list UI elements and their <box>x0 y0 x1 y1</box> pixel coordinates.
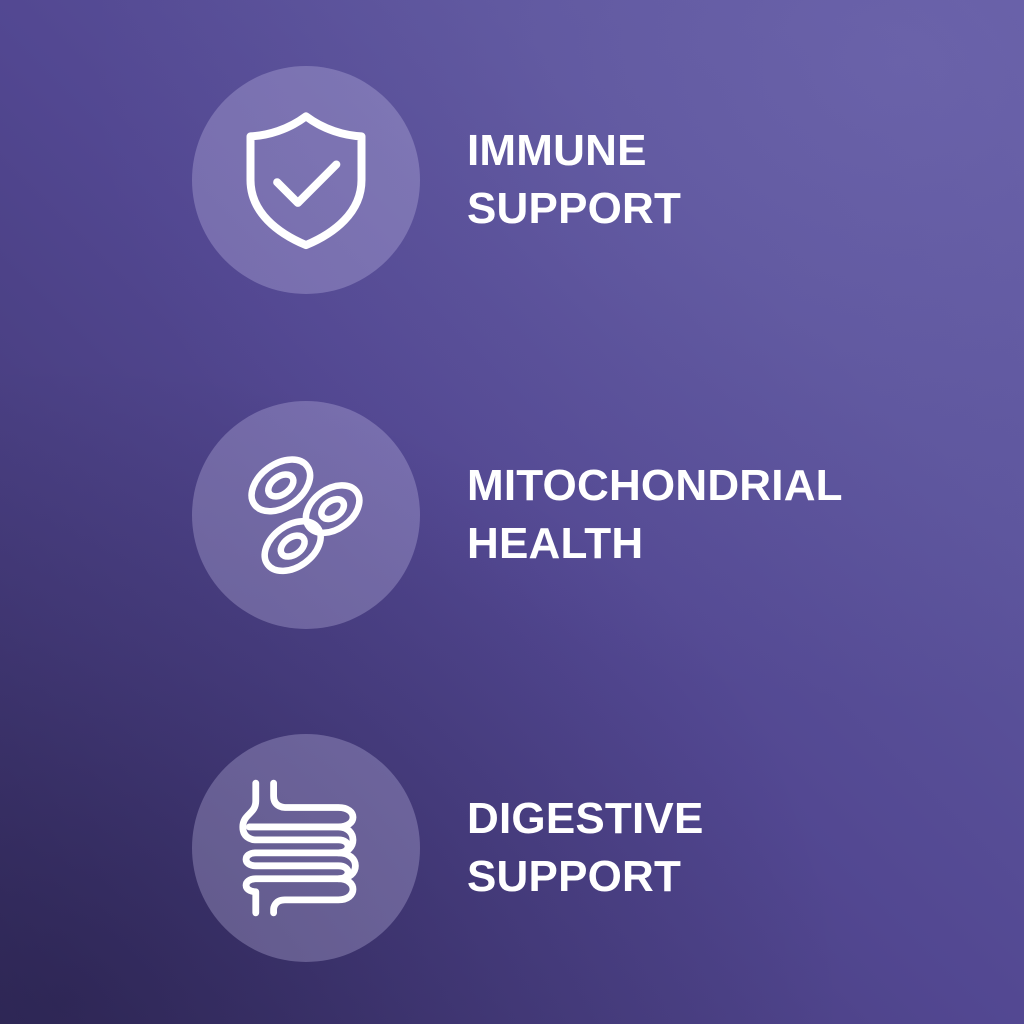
shield-check-icon <box>232 106 380 254</box>
feature-row: Immune Support <box>0 66 1024 294</box>
icon-badge-digestive <box>192 734 420 962</box>
mitochondria-cells-icon <box>232 441 380 589</box>
feature-label-digestive: Digestive Support <box>467 790 704 906</box>
icon-badge-mitochondrial <box>192 401 420 629</box>
icon-badge-immune <box>192 66 420 294</box>
feature-label-mitochondrial: Mitochondrial Health <box>467 457 843 573</box>
intestine-icon <box>225 767 387 929</box>
benefits-graphic: Immune Support <box>0 0 1024 1024</box>
feature-row: Mitochondrial Health <box>0 401 1024 629</box>
feature-label-immune: Immune Support <box>467 122 681 238</box>
feature-row: Digestive Support <box>0 734 1024 962</box>
